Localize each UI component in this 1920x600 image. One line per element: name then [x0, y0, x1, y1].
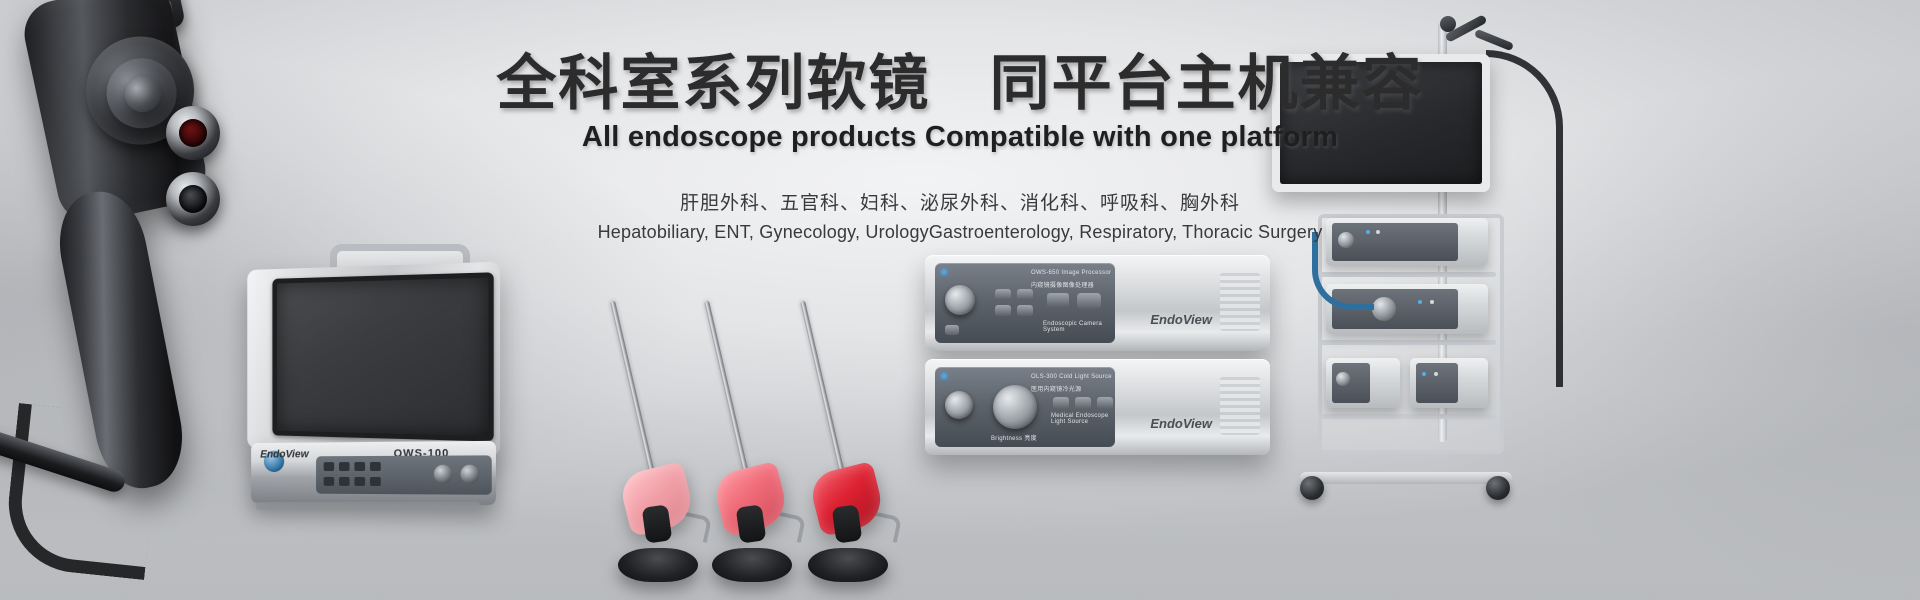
device-led: [1418, 300, 1422, 304]
white-balance-button: [1075, 397, 1091, 409]
lightsource-front-panel: OLS-300 Cold Light Source 医用内窥镜冷光源 Brigh…: [935, 367, 1115, 447]
processor-button: [995, 305, 1011, 316]
lightsource-subtitle: Medical Endoscope Light Source: [1051, 413, 1115, 425]
brightness-dial-label: Brightness 亮度: [991, 433, 1037, 442]
keypad-key: [339, 477, 350, 486]
scope-neck: [642, 504, 673, 543]
monitor-screen: [272, 272, 493, 441]
processor-stack-image: OWS-650 Image Processor 内窥镜摄像图像处理器 Endos…: [925, 255, 1270, 470]
scope-stand: [808, 548, 888, 582]
arm-joint: [1440, 16, 1456, 32]
processor-main-dial: [945, 285, 975, 315]
scope-neck: [832, 504, 863, 543]
control-keypad: [316, 455, 492, 494]
keypad-key: [370, 477, 381, 486]
light-output-port: [945, 391, 973, 419]
power-led: [941, 269, 947, 275]
panel-dial: [434, 465, 452, 483]
device-led: [1422, 372, 1426, 376]
trolley-wheel: [1486, 476, 1510, 500]
keypad-key: [324, 477, 334, 486]
keypad-key: [324, 462, 334, 471]
processor-front-panel: OWS-650 Image Processor 内窥镜摄像图像处理器 Endos…: [935, 263, 1115, 343]
product-banner: EndoView OWS-100: [0, 0, 1920, 600]
power-led: [941, 373, 947, 379]
scope-stand: [618, 548, 698, 582]
keypad-key: [370, 462, 381, 471]
auto-button: [1053, 397, 1069, 409]
processor-button: [1017, 289, 1033, 300]
processor-button: [995, 289, 1011, 300]
brand-logo-lightsource: EndoView: [1150, 416, 1212, 431]
processor-button: [1017, 305, 1033, 316]
banner-text-block: 全科室系列软镜 同平台主机兼容 All endoscope products C…: [0, 52, 1920, 243]
headline-cn-part1: 全科室系列软镜: [496, 50, 930, 117]
cold-light-source-unit: OLS-300 Cold Light Source 医用内窥镜冷光源 Brigh…: [925, 359, 1270, 455]
usb-port: [1077, 293, 1101, 309]
device-dial: [1372, 297, 1396, 321]
arm-segment: [1474, 29, 1514, 51]
rigid-scope-red: [788, 342, 908, 582]
pump-button: [1097, 397, 1113, 409]
headline-chinese: 全科室系列软镜 同平台主机兼容: [0, 52, 1920, 115]
endoscope-insertion-tube: [2, 403, 161, 580]
processor-title-cn: 内窥镜摄像图像处理器: [1031, 280, 1094, 289]
processor-subtitle: Endoscopic Camera System: [1043, 321, 1115, 333]
departments-english: Hepatobiliary, ENT, Gynecology, UrologyG…: [0, 222, 1920, 243]
keypad-key: [339, 462, 350, 471]
device-panel: [1416, 363, 1458, 403]
departments-chinese: 肝胆外科、五官科、妇科、泌尿外科、消化科、呼吸科、胸外科: [0, 188, 1920, 215]
headline-cn-part2: 同平台主机兼容: [990, 50, 1424, 117]
trolley-wheel: [1300, 476, 1324, 500]
scope-neck: [736, 504, 767, 543]
brand-logo-processor: EndoView: [1150, 312, 1212, 327]
ventilation-grille: [1220, 273, 1260, 331]
brightness-dial: [993, 385, 1037, 429]
headline-english: All endoscope products Compatible with o…: [0, 121, 1920, 154]
device-led: [1434, 372, 1438, 376]
device-led: [1430, 300, 1434, 304]
panel-dial: [460, 465, 479, 484]
processor-button: [945, 325, 959, 335]
device-dial: [1336, 372, 1350, 386]
trolley-device-4: [1410, 358, 1488, 408]
processor-title-en: OWS-650 Image Processor: [1031, 270, 1111, 276]
processor-button-wide: [1047, 293, 1069, 307]
scope-stand: [712, 548, 792, 582]
image-processor-unit: OWS-650 Image Processor 内窥镜摄像图像处理器 Endos…: [925, 255, 1270, 351]
lightsource-title-cn: 医用内窥镜冷光源: [1031, 384, 1081, 393]
keypad-key: [354, 462, 365, 471]
trolley-device-3: [1326, 358, 1400, 408]
trolley-base-plate: [1300, 472, 1512, 484]
lightsource-title-en: OLS-300 Cold Light Source: [1031, 374, 1112, 380]
trolley-shelf: [1318, 340, 1496, 345]
trolley-shelf: [1318, 414, 1496, 419]
ventilation-grille: [1220, 377, 1260, 435]
keypad-key: [354, 477, 365, 486]
